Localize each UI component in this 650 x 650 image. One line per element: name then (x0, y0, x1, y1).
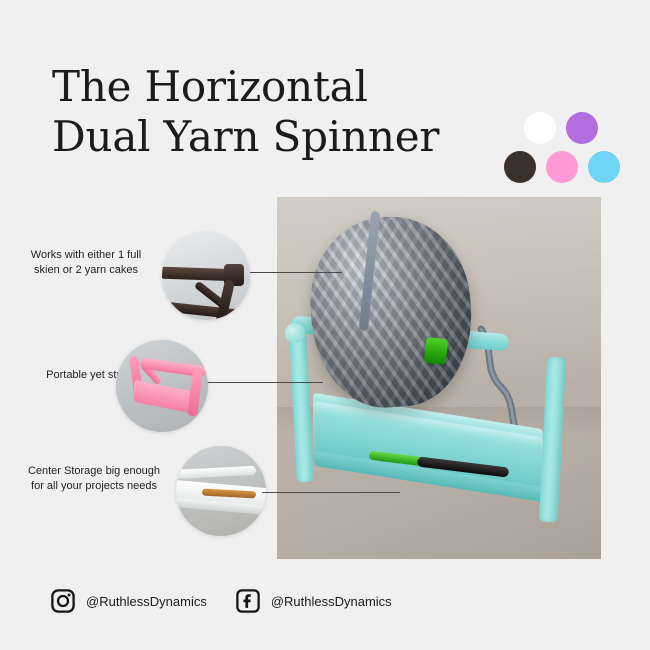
facebook-icon[interactable] (235, 588, 261, 614)
feature-thumbnail-dark-brown-rod[interactable] (162, 232, 250, 320)
page-title: The Horizontal Dual Yarn Spinner (52, 62, 482, 162)
instagram-handle[interactable]: @RuthlessDynamics (86, 594, 207, 609)
swatch-sky-blue[interactable] (588, 151, 620, 183)
poster-canvas: The Horizontal Dual Yarn Spinner (0, 0, 650, 650)
swatch-purple[interactable] (566, 112, 598, 144)
connector-line-feature-3 (262, 492, 400, 493)
instagram-group[interactable]: @RuthlessDynamics (50, 588, 207, 614)
connector-line-feature-1 (250, 272, 342, 273)
feature-thumbnail-white-center-storage[interactable] (176, 446, 266, 536)
swatch-pink[interactable] (546, 151, 578, 183)
facebook-group[interactable]: @RuthlessDynamics (235, 588, 392, 614)
product-photo (277, 197, 601, 559)
title-line-2: Dual Yarn Spinner (52, 112, 482, 162)
title-line-1: The Horizontal (52, 62, 482, 112)
feature-thumbnail-pink-frame[interactable] (116, 340, 208, 432)
feature-label-works-with-skein-or-cakes: Works with either 1 full skien or 2 yarn… (22, 248, 150, 278)
green-spacer-collar (424, 337, 448, 365)
swatch-dark-brown[interactable] (504, 151, 536, 183)
feature-label-center-storage: Center Storage big enough for all your p… (24, 464, 164, 494)
color-swatch-group (504, 112, 608, 183)
gray-yarn-cake (305, 212, 478, 413)
spinner-rod-cap (285, 323, 305, 343)
swatch-white[interactable] (524, 112, 556, 144)
social-footer: @RuthlessDynamics @RuthlessDynamics (50, 588, 392, 614)
instagram-icon[interactable] (50, 588, 76, 614)
connector-line-feature-2 (208, 382, 323, 383)
facebook-handle[interactable]: @RuthlessDynamics (271, 594, 392, 609)
